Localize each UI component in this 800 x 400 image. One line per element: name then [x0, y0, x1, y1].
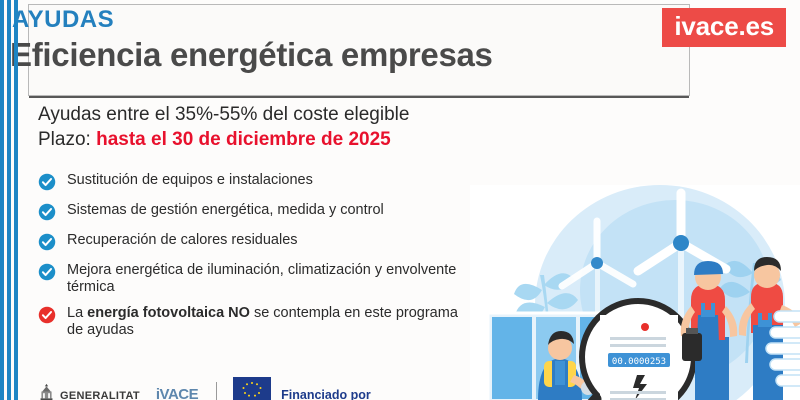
footer-logos: GENERALITAT iVACE Financiado por: [38, 376, 371, 400]
eu-funding-label: Financiado por: [281, 389, 371, 400]
list-item-excluded: La energía fotovoltaica NO se contempla …: [38, 305, 478, 339]
eyebrow-label: AYUDAS: [12, 6, 114, 34]
check-circle-blue-icon: [38, 233, 56, 251]
list-item: Sistemas de gestión energética, medida y…: [38, 202, 478, 221]
stripe-1: [0, 0, 4, 400]
check-circle-blue-icon: [38, 263, 56, 281]
deadline-date: hasta el 30 de diciembre de 2025: [96, 129, 391, 150]
excluded-text-bold: energía fotovoltaica NO: [87, 305, 250, 321]
excluded-text-before: La: [67, 305, 87, 321]
list-item: Recuperación de calores residuales: [38, 232, 478, 251]
list-item-label: Sustitución de equipos e instalaciones: [67, 172, 313, 189]
subtitle-group: Ayudas entre el 35%-55% del coste elegib…: [38, 102, 409, 152]
ivace-footer-logo: iVACE: [156, 388, 198, 400]
list-item-label: Sistemas de gestión energética, medida y…: [67, 202, 384, 219]
svg-text:00.0000253: 00.0000253: [612, 357, 666, 367]
deadline-prefix: Plazo:: [38, 129, 96, 150]
list-item-label: Recuperación de calores residuales: [67, 232, 298, 249]
check-circle-blue-icon: [38, 203, 56, 221]
footer-divider: [216, 382, 217, 400]
excluded-item-label: La energía fotovoltaica NO se contempla …: [67, 305, 478, 339]
eu-flag-icon: [233, 377, 271, 400]
poster-canvas: 00.0000253: [0, 0, 800, 400]
page-title: Eficiencia energética empresas: [10, 36, 493, 74]
list-item: Sustitución de equipos e instalaciones: [38, 172, 478, 191]
stripe-3: [14, 0, 18, 400]
eligible-actions-list: Sustitución de equipos e instalaciones S…: [38, 172, 478, 350]
ivace-brand-logo[interactable]: ivace.es: [662, 8, 786, 47]
left-stripes-decoration: [0, 0, 22, 400]
subtitle-amount: Ayudas entre el 35%-55% del coste elegib…: [38, 102, 409, 127]
check-circle-red-icon: [38, 306, 56, 324]
generalitat-label: GENERALITAT: [60, 390, 140, 400]
generalitat-logo: GENERALITAT: [38, 381, 140, 400]
subtitle-deadline: Plazo: hasta el 30 de diciembre de 2025: [38, 127, 409, 152]
stripe-2: [7, 0, 11, 400]
generalitat-crest-icon: [38, 381, 55, 400]
energy-efficiency-workers-illustration: 00.0000253: [470, 185, 800, 400]
list-item-label: Mejora energética de iluminación, climat…: [67, 262, 478, 296]
check-circle-blue-icon: [38, 173, 56, 191]
list-item: Mejora energética de iluminación, climat…: [38, 262, 478, 296]
